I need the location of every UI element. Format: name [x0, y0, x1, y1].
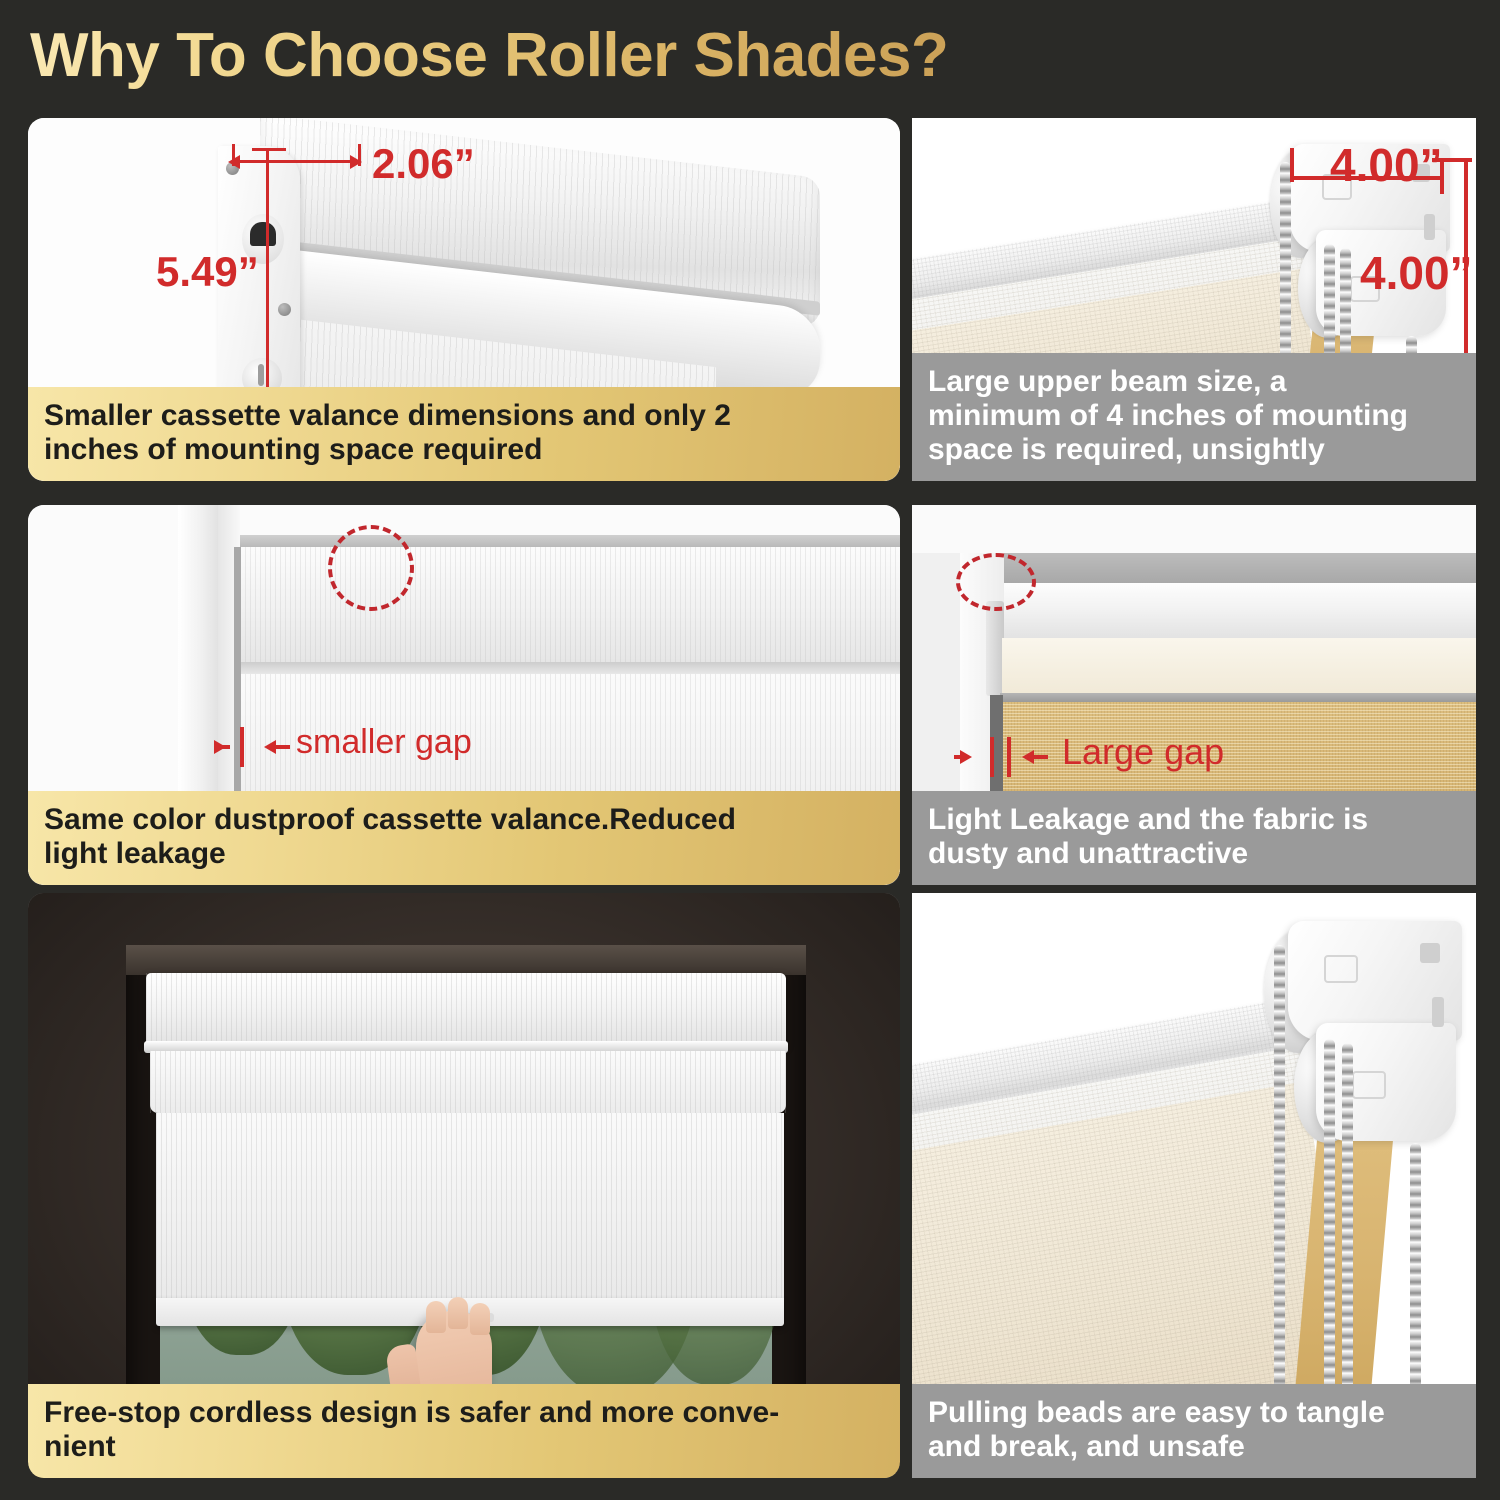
caption-line: Smaller cassette valance dimensions and …	[44, 399, 884, 433]
panel-smaller-cassette[interactable]: 2.06” 5.49” Smaller cassette valance dim…	[28, 118, 900, 481]
caption-line: and break, and unsafe	[928, 1430, 1460, 1464]
caption-large-upper-beam: Large upper beam size, a minimum of 4 in…	[912, 353, 1476, 481]
gap-marker	[240, 727, 244, 767]
bead-chain	[1324, 1039, 1335, 1425]
gap-label: smaller gap	[296, 723, 472, 762]
caption-line: Pulling beads are easy to tangle	[928, 1396, 1460, 1430]
bead-chain	[1410, 1143, 1421, 1425]
gap-highlight-circle	[956, 553, 1036, 611]
bead-chain	[1274, 945, 1285, 1425]
caption-pulling-beads: Pulling beads are easy to tangle and bre…	[912, 1384, 1476, 1478]
caption-line: Free-stop cordless design is safer and m…	[44, 1396, 884, 1430]
height-dimension-line	[266, 148, 269, 420]
caption-line: light leakage	[44, 837, 884, 871]
panel-dustproof-cassette[interactable]: smaller gap Same color dustproof cassett…	[28, 505, 900, 885]
height-dimension-label: 4.00”	[1360, 246, 1473, 300]
caption-line: inches of mounting space required	[44, 433, 884, 467]
gap-label: Large gap	[1062, 731, 1224, 773]
height-dimension-label: 5.49”	[156, 248, 259, 296]
caption-line: space is required, unsightly	[928, 433, 1460, 467]
width-dimension-label: 2.06”	[372, 140, 475, 188]
width-dimension-label: 4.00”	[1330, 138, 1443, 192]
panel-free-stop-cordless[interactable]: Free-stop cordless design is safer and m…	[28, 893, 900, 1478]
page-title: Why To Choose Roller Shades?	[30, 20, 948, 91]
caption-line: Light Leakage and the fabric is	[928, 803, 1460, 837]
caption-line: nient	[44, 1430, 884, 1464]
caption-light-leakage: Light Leakage and the fabric is dusty an…	[912, 791, 1476, 885]
infographic-page: Why To Choose Roller Shades?	[0, 0, 1500, 1500]
width-dimension-line	[232, 160, 360, 163]
caption-dustproof-cassette: Same color dustproof cassette valance.Re…	[28, 791, 900, 885]
gap-marker-left	[990, 737, 994, 777]
caption-line: dusty and unattractive	[928, 837, 1460, 871]
caption-free-stop-cordless: Free-stop cordless design is safer and m…	[28, 1384, 900, 1478]
comparison-grid: 2.06” 5.49” Smaller cassette valance dim…	[28, 118, 1476, 1478]
bead-chain	[1342, 1043, 1353, 1425]
caption-line: Same color dustproof cassette valance.Re…	[44, 803, 884, 837]
panel-light-leakage[interactable]: Large gap Light Leakage and the fabric i…	[912, 505, 1476, 885]
gap-arrow-left	[1022, 750, 1034, 764]
panel-pulling-beads[interactable]: Pulling beads are easy to tangle and bre…	[912, 893, 1476, 1478]
caption-line: Large upper beam size, a	[928, 365, 1460, 399]
caption-line: minimum of 4 inches of mounting	[928, 399, 1460, 433]
caption-smaller-cassette: Smaller cassette valance dimensions and …	[28, 387, 900, 481]
panel-large-upper-beam[interactable]: 4.00” 4.00” Large upper beam size, a min…	[912, 118, 1476, 481]
gap-marker-right	[1007, 737, 1011, 777]
gap-arrow-left	[264, 740, 276, 754]
gap-highlight-circle	[328, 525, 414, 611]
